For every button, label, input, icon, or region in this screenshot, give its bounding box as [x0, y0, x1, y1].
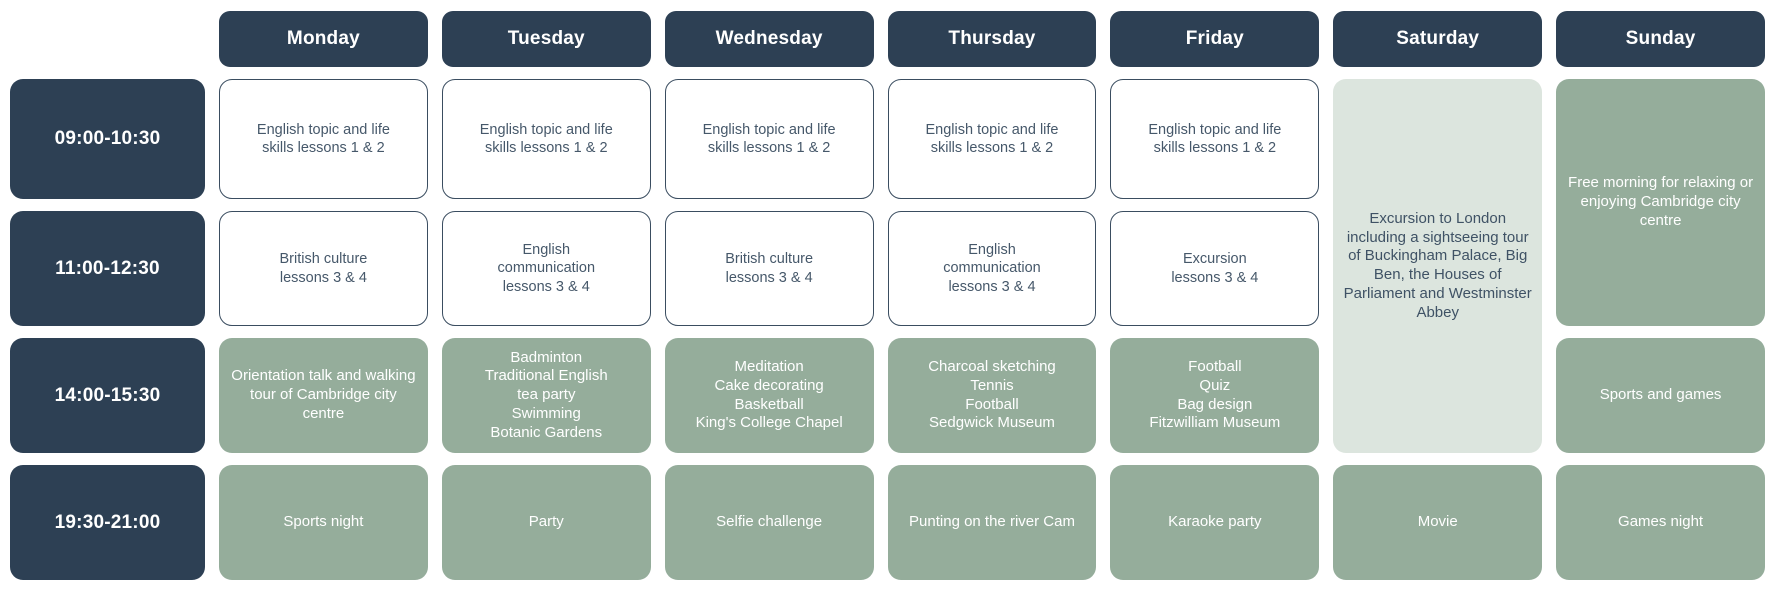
time-slot-label: 19:30-21:00	[55, 512, 161, 534]
session-tuesday-1100: English communication lessons 3 & 4	[442, 211, 651, 326]
timetable-corner-cell	[10, 11, 205, 67]
session-thursday-1400: Charcoal sketching Tennis Football Sedgw…	[888, 338, 1097, 453]
session-text: Meditation Cake decorating Basketball Ki…	[675, 358, 864, 433]
session-text: English topic and life skills lessons 1 …	[230, 121, 417, 157]
session-sunday-1930: Games night	[1556, 465, 1765, 580]
session-text: British culture lessons 3 & 4	[676, 250, 863, 286]
session-text: Charcoal sketching Tennis Football Sedgw…	[898, 358, 1087, 433]
session-text: Movie	[1343, 513, 1532, 532]
session-text: Punting on the river Cam	[898, 513, 1087, 532]
session-text: Selfie challenge	[675, 513, 864, 532]
session-wednesday-1930: Selfie challenge	[665, 465, 874, 580]
session-monday-1930: Sports night	[219, 465, 428, 580]
day-header-label: Wednesday	[716, 28, 823, 50]
day-header-label: Friday	[1186, 28, 1244, 50]
session-tuesday-1930: Party	[442, 465, 651, 580]
session-thursday-1930: Punting on the river Cam	[888, 465, 1097, 580]
session-friday-1400: Football Quiz Bag design Fitzwilliam Mus…	[1110, 338, 1319, 453]
session-friday-1100: Excursion lessons 3 & 4	[1110, 211, 1319, 326]
time-slot-1930-2100: 19:30-21:00	[10, 465, 205, 580]
session-monday-1400: Orientation talk and walking tour of Cam…	[219, 338, 428, 453]
session-text: Sports and games	[1566, 386, 1755, 405]
time-slot-label: 11:00-12:30	[55, 258, 160, 280]
session-text: Free morning for relaxing or enjoying Ca…	[1566, 174, 1755, 230]
session-text: English topic and life skills lessons 1 …	[676, 121, 863, 157]
session-friday-0900: English topic and life skills lessons 1 …	[1110, 79, 1319, 199]
day-header-friday: Friday	[1110, 11, 1319, 67]
day-header-tuesday: Tuesday	[442, 11, 651, 67]
session-text: English topic and life skills lessons 1 …	[453, 121, 640, 157]
day-header-monday: Monday	[219, 11, 428, 67]
session-tuesday-1400: Badminton Traditional English tea party …	[442, 338, 651, 453]
session-text: English communication lessons 3 & 4	[899, 241, 1086, 295]
session-text: Karaoke party	[1120, 513, 1309, 532]
day-header-label: Thursday	[948, 28, 1035, 50]
session-monday-0900: English topic and life skills lessons 1 …	[219, 79, 428, 199]
session-tuesday-0900: English topic and life skills lessons 1 …	[442, 79, 651, 199]
session-wednesday-0900: English topic and life skills lessons 1 …	[665, 79, 874, 199]
session-text: British culture lessons 3 & 4	[230, 250, 417, 286]
time-slot-label: 09:00-10:30	[55, 128, 161, 150]
session-text: English topic and life skills lessons 1 …	[899, 121, 1086, 157]
session-sunday-free-morning: Free morning for relaxing or enjoying Ca…	[1556, 79, 1765, 326]
session-text: Badminton Traditional English tea party …	[452, 349, 641, 443]
session-text: English communication lessons 3 & 4	[453, 241, 640, 295]
day-header-thursday: Thursday	[888, 11, 1097, 67]
session-wednesday-1100: British culture lessons 3 & 4	[665, 211, 874, 326]
day-header-wednesday: Wednesday	[665, 11, 874, 67]
day-header-label: Sunday	[1626, 28, 1696, 50]
session-wednesday-1400: Meditation Cake decorating Basketball Ki…	[665, 338, 874, 453]
session-saturday-excursion: Excursion to London including a sightsee…	[1333, 79, 1542, 453]
day-header-sunday: Sunday	[1556, 11, 1765, 67]
session-saturday-1930: Movie	[1333, 465, 1542, 580]
time-slot-1400-1530: 14:00-15:30	[10, 338, 205, 453]
session-text: Orientation talk and walking tour of Cam…	[229, 367, 418, 423]
weekly-timetable: Monday Tuesday Wednesday Thursday Friday…	[0, 0, 1775, 615]
session-text: Football Quiz Bag design Fitzwilliam Mus…	[1120, 358, 1309, 433]
time-slot-label: 14:00-15:30	[55, 385, 161, 407]
session-friday-1930: Karaoke party	[1110, 465, 1319, 580]
session-text: Excursion lessons 3 & 4	[1121, 250, 1308, 286]
session-thursday-1100: English communication lessons 3 & 4	[888, 211, 1097, 326]
session-monday-1100: British culture lessons 3 & 4	[219, 211, 428, 326]
session-sunday-1400: Sports and games	[1556, 338, 1765, 453]
session-text: English topic and life skills lessons 1 …	[1121, 121, 1308, 157]
session-text: Sports night	[229, 513, 418, 532]
day-header-label: Monday	[287, 28, 360, 50]
session-text: Party	[452, 513, 641, 532]
day-header-label: Saturday	[1396, 28, 1479, 50]
day-header-label: Tuesday	[508, 28, 585, 50]
time-slot-1100-1230: 11:00-12:30	[10, 211, 205, 326]
day-header-saturday: Saturday	[1333, 11, 1542, 67]
session-text: Excursion to London including a sightsee…	[1343, 210, 1532, 323]
time-slot-0900-1030: 09:00-10:30	[10, 79, 205, 199]
session-text: Games night	[1566, 513, 1755, 532]
session-thursday-0900: English topic and life skills lessons 1 …	[888, 79, 1097, 199]
